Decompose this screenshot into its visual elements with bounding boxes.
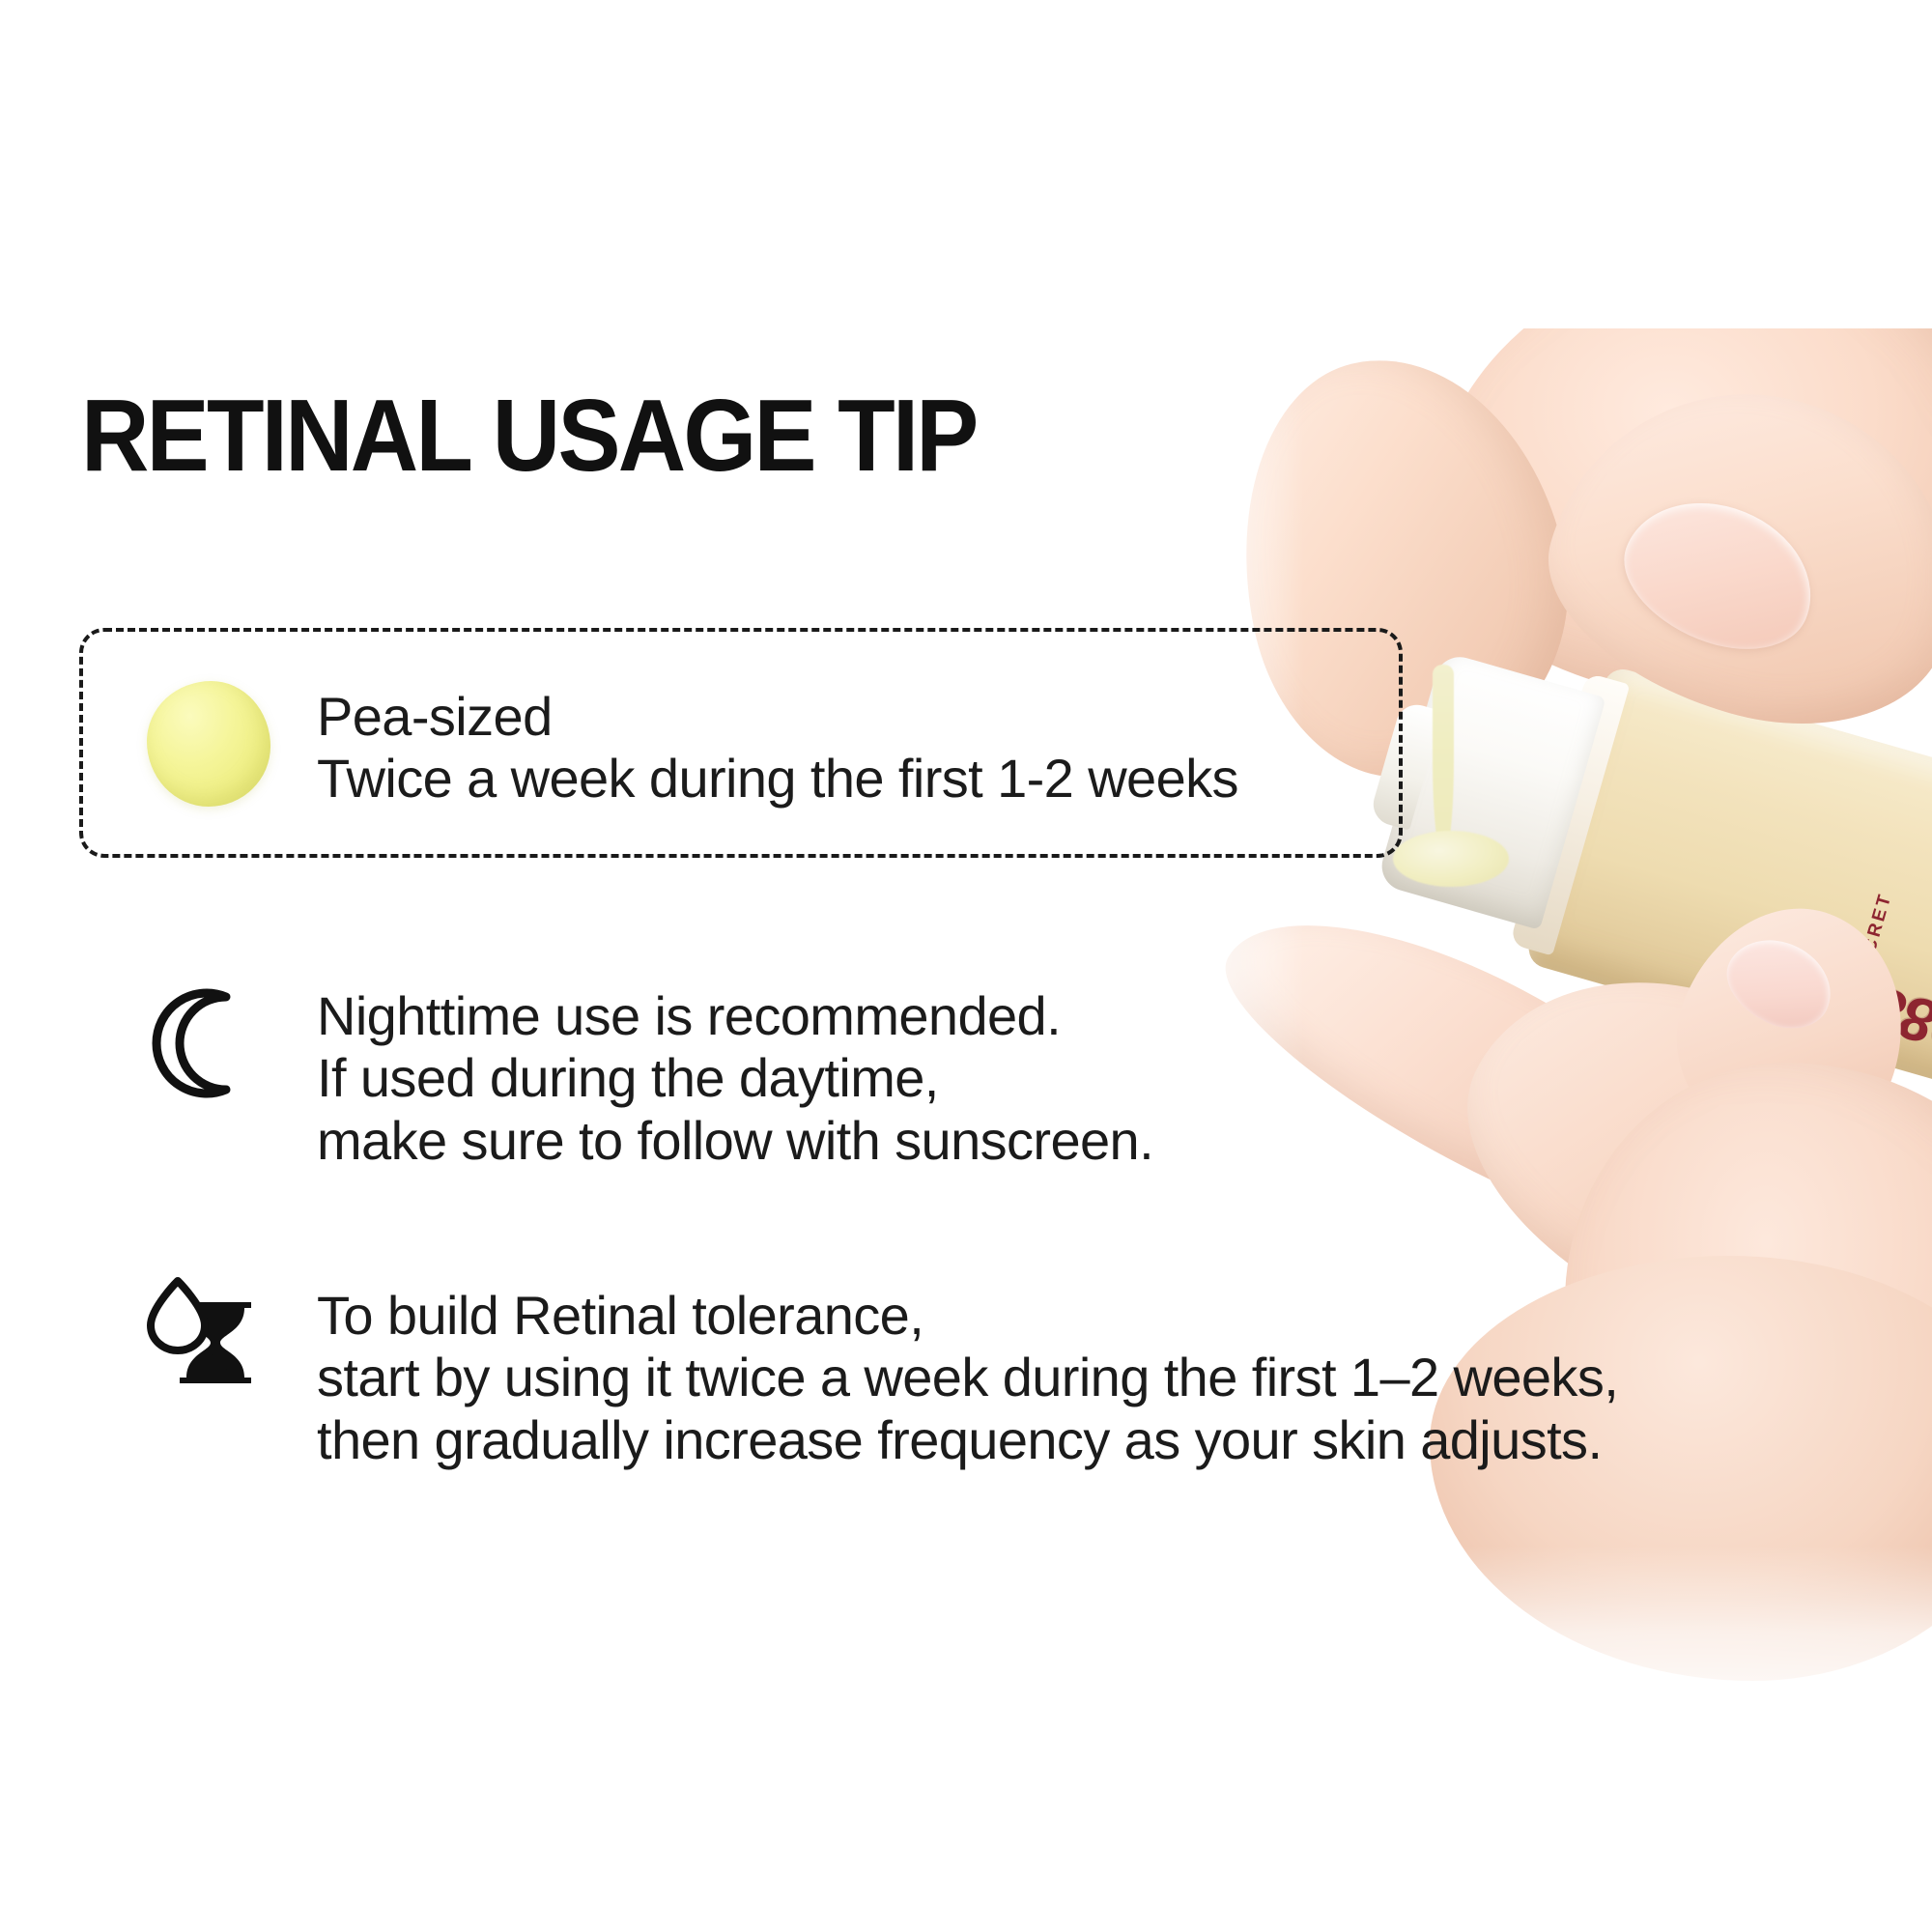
tip-tol-line-1: To build Retinal tolerance,: [317, 1285, 1618, 1347]
tip-tol-line-2: start by using it twice a week during th…: [317, 1347, 1618, 1408]
tip-night-line-2: If used during the daytime,: [317, 1047, 1153, 1109]
page-title: RETINAL USAGE TIP: [81, 384, 977, 487]
pea-line-2: Twice a week during the first 1-2 weeks: [317, 748, 1238, 810]
poster-canvas: K-SECRET UL 1988 RETINAL USAGE TIP Pea-s…: [0, 0, 1932, 1932]
tip-nighttime-text: Nighttime use is recommended. If used du…: [317, 985, 1153, 1172]
droplet-hourglass-icon: [145, 1275, 261, 1410]
pea-sized-callout-text: Pea-sized Twice a week during the first …: [317, 686, 1238, 810]
tip-night-line-3: make sure to follow with sunscreen.: [317, 1110, 1153, 1172]
product-photo: K-SECRET UL 1988: [1140, 328, 1932, 1719]
tip-night-line-1: Nighttime use is recommended.: [317, 985, 1153, 1047]
tip-tolerance-text: To build Retinal tolerance, start by usi…: [317, 1285, 1618, 1471]
serum-droplet-on-finger: [1393, 831, 1509, 887]
serum-drop-icon: [147, 681, 270, 807]
tip-tol-line-3: then gradually increase frequency as you…: [317, 1409, 1618, 1471]
photo-bottom-fade: [1140, 1546, 1932, 1719]
crescent-moon-icon: [145, 985, 251, 1101]
pea-line-1: Pea-sized: [317, 686, 1238, 748]
serum-stream: [1433, 665, 1454, 858]
photo-left-fade: [1140, 328, 1304, 1719]
